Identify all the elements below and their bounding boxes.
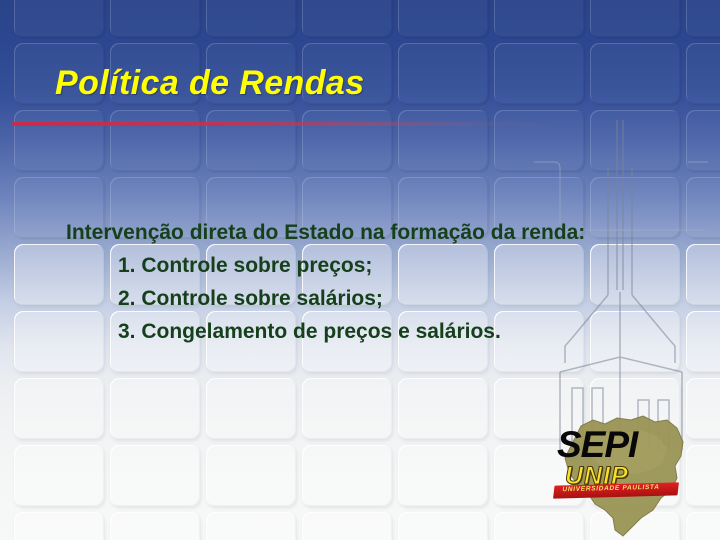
background-tile xyxy=(590,43,680,104)
background-tile xyxy=(494,0,584,37)
background-tile xyxy=(206,445,296,506)
background-tile xyxy=(398,378,488,439)
background-tile xyxy=(302,0,392,37)
background-tile xyxy=(494,378,584,439)
background-tile xyxy=(398,445,488,506)
list-item: 1. Controle sobre preços; xyxy=(66,249,666,282)
page-title: Política de Rendas xyxy=(55,64,365,103)
background-tile xyxy=(686,110,720,171)
background-tile xyxy=(302,378,392,439)
body-content: Intervenção direta do Estado na formação… xyxy=(66,216,666,348)
background-tile xyxy=(686,311,720,372)
logo-banner-text: UNIVERSIDADE PAULISTA xyxy=(543,483,679,494)
background-tile xyxy=(494,43,584,104)
background-tile xyxy=(14,0,104,37)
background-tile xyxy=(110,378,200,439)
background-tile xyxy=(590,378,680,439)
logo-primary-text: SEPI xyxy=(557,424,637,466)
background-tile xyxy=(686,0,720,37)
background-tile xyxy=(494,445,584,506)
background-tile xyxy=(14,110,104,171)
background-tile xyxy=(110,512,200,540)
background-tile xyxy=(686,177,720,238)
background-tile xyxy=(494,512,584,540)
background-tile xyxy=(398,512,488,540)
background-tile xyxy=(398,0,488,37)
sepi-unip-logo: SEPI UNIP UNIVERSIDADE PAULISTA xyxy=(543,400,693,540)
background-tile xyxy=(590,512,680,540)
logo-banner-shape xyxy=(553,482,679,498)
background-tile xyxy=(686,378,720,439)
background-tile xyxy=(206,512,296,540)
background-tile xyxy=(398,43,488,104)
background-tile xyxy=(110,110,200,171)
background-tile xyxy=(686,244,720,305)
slide-canvas: Política de Rendas Intervenção direta do… xyxy=(0,0,720,540)
title-divider xyxy=(12,122,712,126)
background-tile xyxy=(590,0,680,37)
background-tile xyxy=(686,43,720,104)
background-tile xyxy=(110,0,200,37)
brazil-map-icon xyxy=(543,400,693,540)
background-tile xyxy=(206,0,296,37)
logo-secondary-text: UNIP xyxy=(565,462,629,491)
background-tile xyxy=(206,378,296,439)
background-tile xyxy=(206,110,296,171)
background-tile xyxy=(14,445,104,506)
background-tile xyxy=(14,378,104,439)
background-tile xyxy=(398,110,488,171)
background-tile xyxy=(590,110,680,171)
background-tile xyxy=(302,445,392,506)
body-lead: Intervenção direta do Estado na formação… xyxy=(66,216,666,249)
background-tile xyxy=(686,512,720,540)
background-tile xyxy=(686,445,720,506)
background-tile xyxy=(302,110,392,171)
background-tile xyxy=(14,512,104,540)
background-tile xyxy=(110,445,200,506)
list-item: 3. Congelamento de preços e salários. xyxy=(66,315,666,348)
background-tile xyxy=(590,445,680,506)
background-tile xyxy=(302,512,392,540)
list-item: 2. Controle sobre salários; xyxy=(66,282,666,315)
background-tile xyxy=(494,110,584,171)
